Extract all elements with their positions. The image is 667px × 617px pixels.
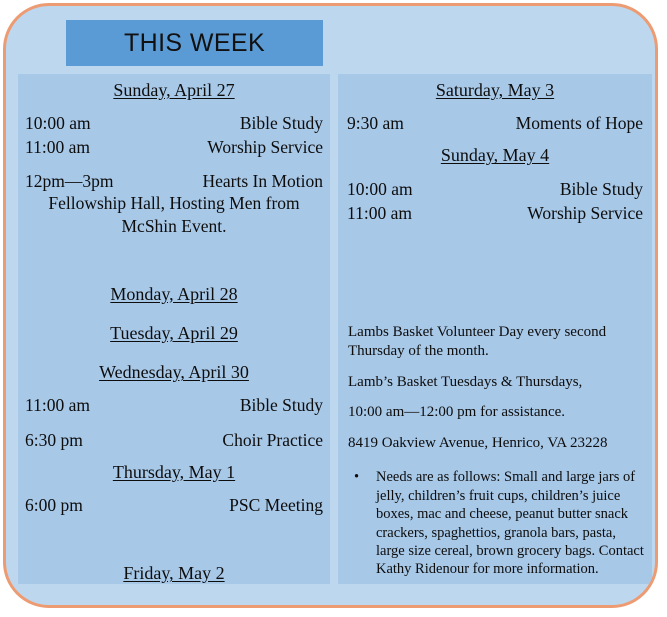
schedule-panel-left: Sunday, April 27 10:00 am Bible Study 11…: [18, 74, 330, 584]
page-title: THIS WEEK: [124, 31, 265, 56]
schedule-row: 11:00 am Worship Service: [22, 135, 326, 159]
lambs-basket-volunteer-note: Lambs Basket Volunteer Day every second …: [344, 323, 646, 362]
spacer: [22, 305, 326, 323]
bulletin-card: THIS WEEK Sunday, April 27 10:00 am Bibl…: [3, 3, 658, 608]
lambs-basket-days-note: Lamb’s Basket Tuesdays & Thursdays,: [344, 373, 646, 393]
schedule-time: 6:00 pm: [25, 493, 83, 517]
day-header-thursday-may-1: Thursday, May 1: [22, 462, 326, 483]
list-item-text: Needs are as follows: Small and large ja…: [376, 469, 644, 577]
spacer: [22, 238, 326, 284]
schedule-row: 10:00 am Bible Study: [344, 177, 646, 201]
spacer: [22, 483, 326, 493]
list-item: • Needs are as follows: Small and large …: [344, 468, 646, 578]
schedule-row: 6:00 pm PSC Meeting: [22, 493, 326, 517]
schedule-event: Moments of Hope: [516, 111, 643, 135]
schedule-time: 11:00 am: [25, 135, 90, 159]
spacer: [22, 418, 326, 428]
schedule-time: 10:00 am: [347, 177, 413, 201]
spacer: [22, 344, 326, 362]
schedule-row: 6:30 pm Choir Practice: [22, 428, 326, 452]
spacer: [22, 383, 326, 393]
note-line: McShin Event.: [25, 215, 323, 238]
schedule-event: PSC Meeting: [229, 493, 323, 517]
note-line: 12pm—3pm Hearts In Motion: [25, 170, 323, 193]
schedule-time: 6:30 pm: [25, 428, 83, 452]
lambs-basket-address: 8419 Oakview Avenue, Henrico, VA 23228: [344, 434, 646, 454]
schedule-row: 11:00 am Worship Service: [344, 201, 646, 225]
schedule-event: Choir Practice: [222, 428, 323, 452]
day-header-tuesday-april-29: Tuesday, April 29: [22, 323, 326, 344]
schedule-event: Bible Study: [240, 111, 323, 135]
spacer: [22, 101, 326, 111]
schedule-event: Worship Service: [207, 135, 323, 159]
schedule-row: 11:00 am Bible Study: [22, 393, 326, 417]
spacer: [344, 167, 646, 177]
schedule-time: 11:00 am: [25, 393, 90, 417]
day-header-friday-may-2: Friday, May 2: [22, 563, 326, 584]
day-header-monday-april-28: Monday, April 28: [22, 284, 326, 305]
schedule-time: 9:30 am: [347, 111, 404, 135]
schedule-time: 11:00 am: [347, 201, 412, 225]
hearts-in-motion-note: 12pm—3pm Hearts In Motion Fellowship Hal…: [22, 170, 326, 238]
spacer: [22, 517, 326, 563]
spacer: [344, 225, 646, 323]
header-banner: THIS WEEK: [66, 20, 323, 66]
schedule-event: Bible Study: [240, 393, 323, 417]
schedule-event: Bible Study: [560, 177, 643, 201]
day-header-sunday-may-4: Sunday, May 4: [344, 145, 646, 166]
spacer: [344, 135, 646, 145]
schedule-panel-right: Saturday, May 3 9:30 am Moments of Hope …: [338, 74, 652, 584]
schedule-time: 10:00 am: [25, 111, 91, 135]
spacer: [22, 160, 326, 170]
note-line: Fellowship Hall, Hosting Men from: [25, 192, 323, 215]
schedule-row: 10:00 am Bible Study: [22, 111, 326, 135]
day-header-wednesday-april-30: Wednesday, April 30: [22, 362, 326, 383]
bullet-icon: •: [354, 468, 359, 486]
schedule-event: Worship Service: [527, 201, 643, 225]
day-header-saturday-may-3: Saturday, May 3: [344, 80, 646, 101]
note-time: 12pm—3pm: [25, 170, 113, 193]
lambs-basket-hours-note: 10:00 am—12:00 pm for assistance.: [344, 403, 646, 423]
spacer: [344, 101, 646, 111]
day-header-sunday-april-27: Sunday, April 27: [22, 80, 326, 101]
spacer: [22, 452, 326, 462]
schedule-row: 9:30 am Moments of Hope: [344, 111, 646, 135]
note-event: Hearts In Motion: [202, 170, 323, 193]
